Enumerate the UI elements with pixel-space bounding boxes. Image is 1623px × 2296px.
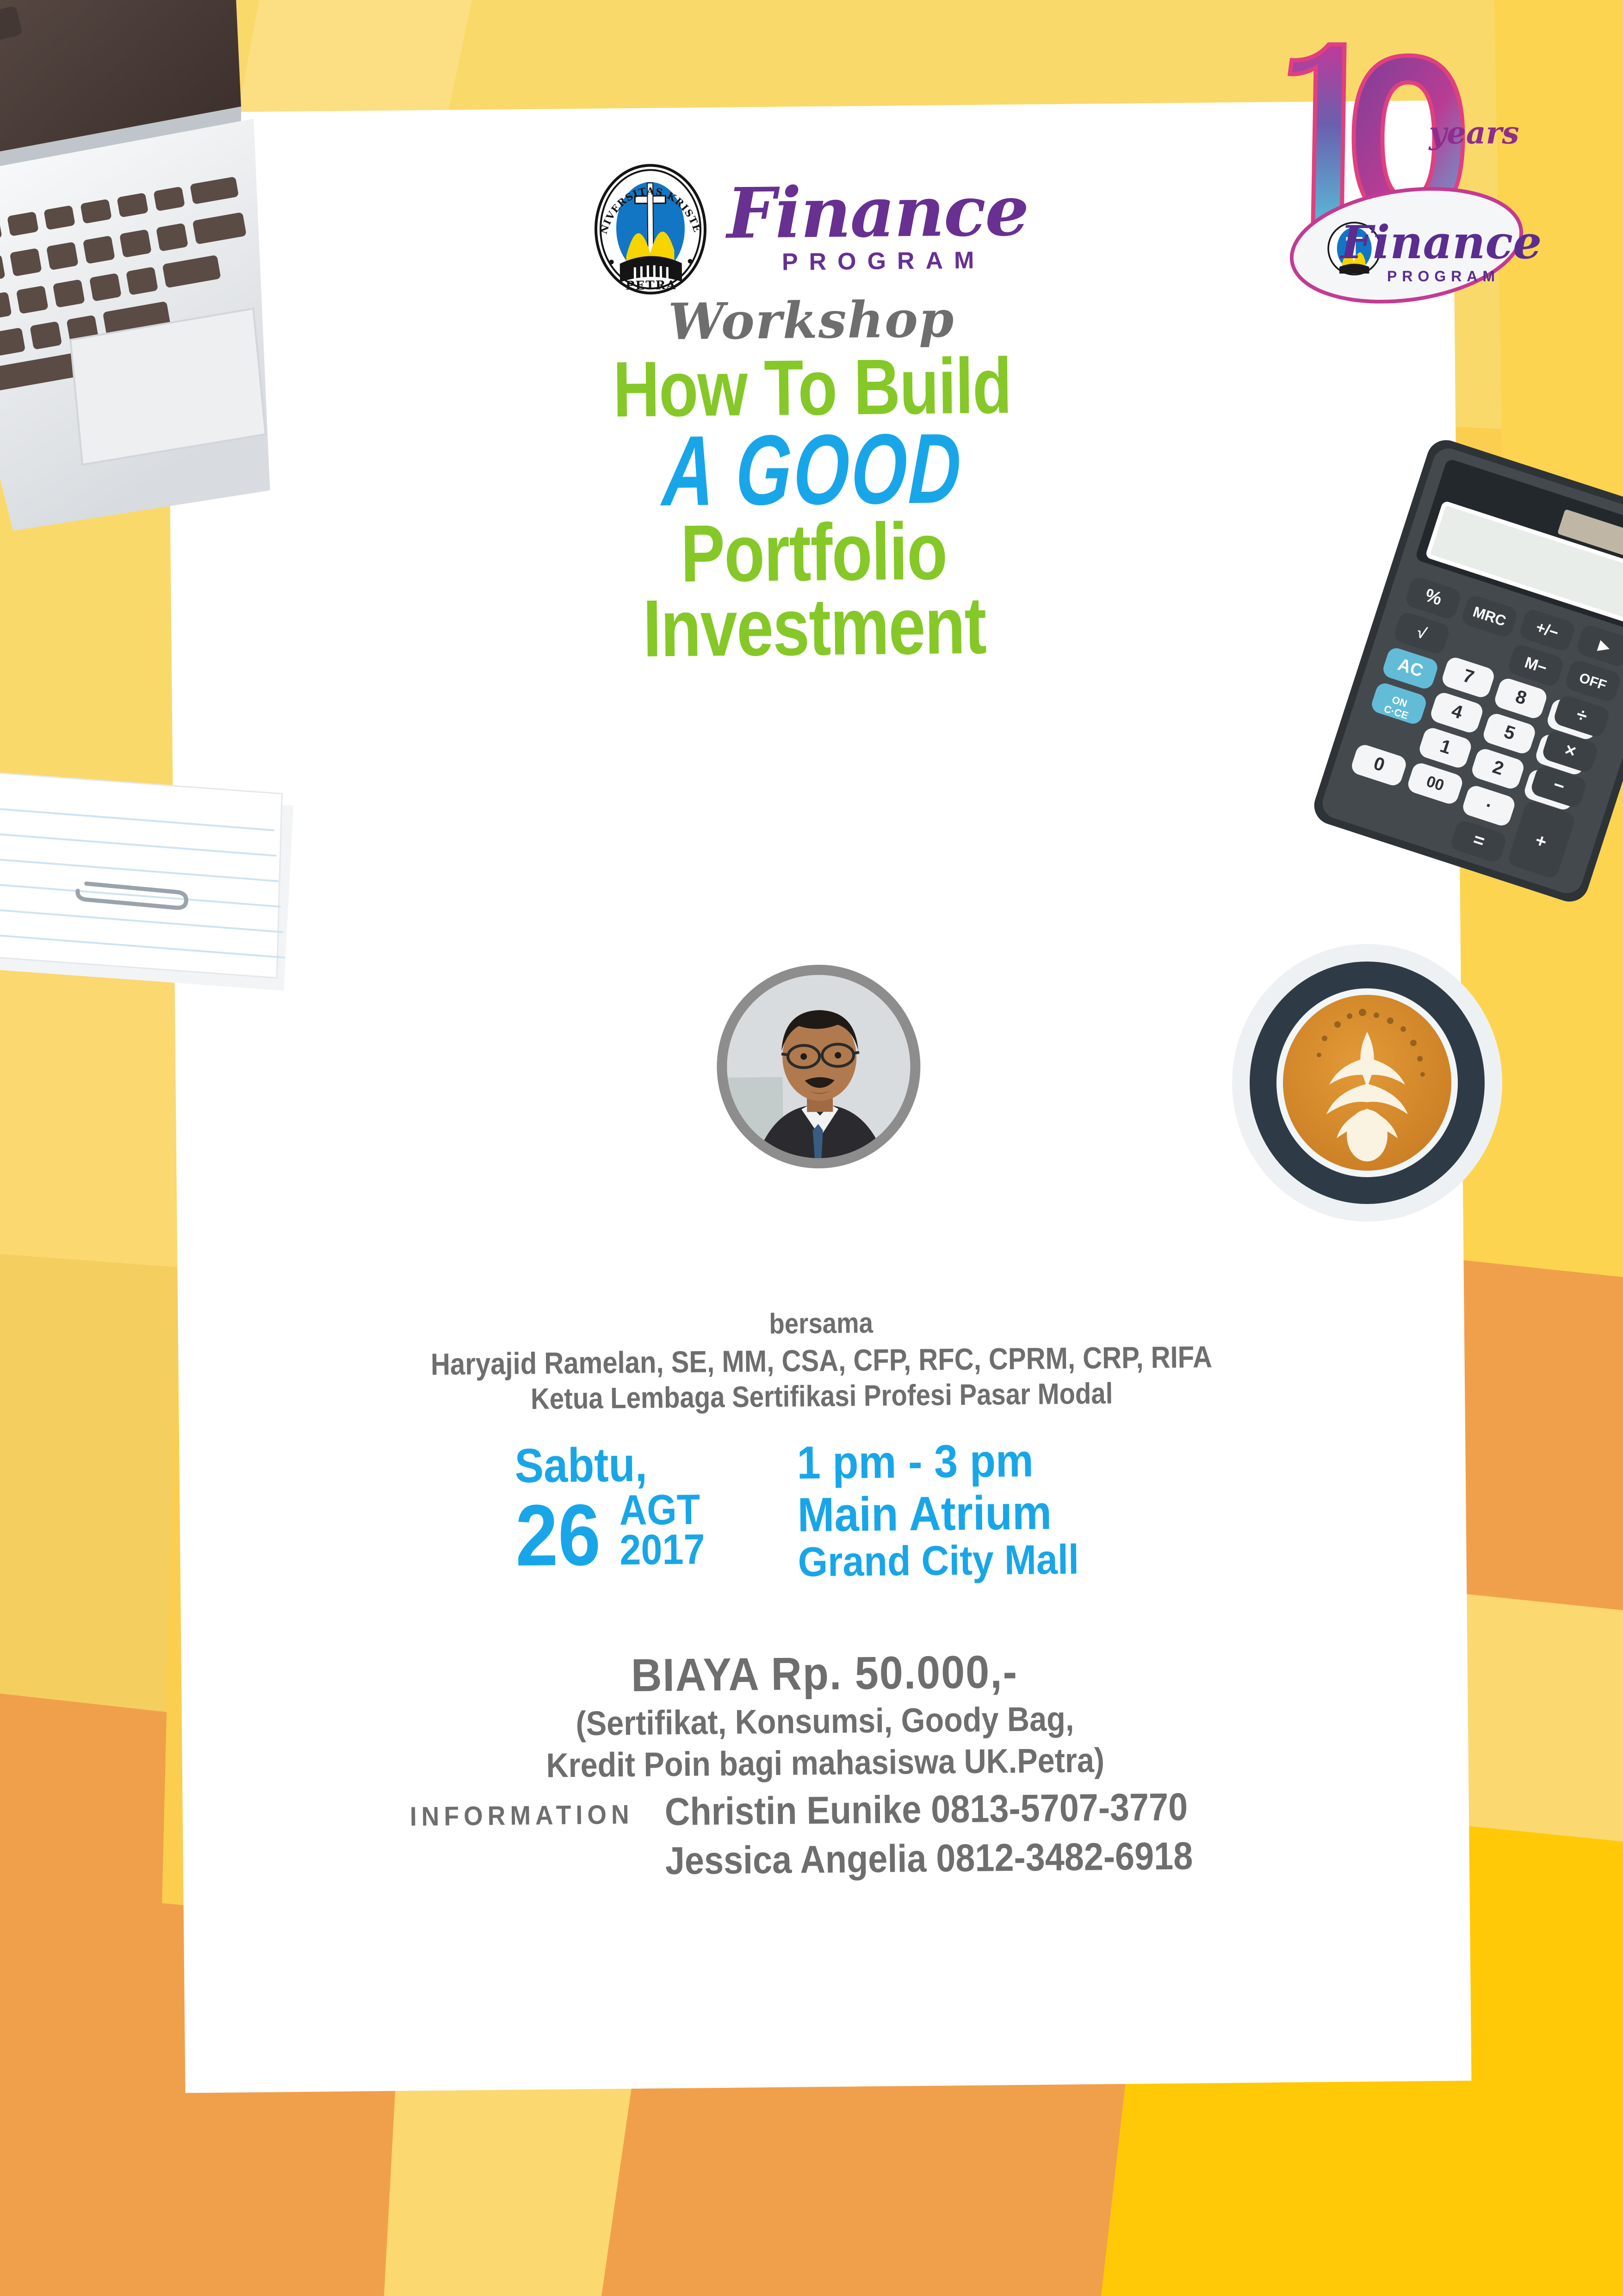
event-time-venue-block: 1 pm - 3 pm Main Atrium Grand City Mall: [797, 1435, 1187, 1584]
information-contacts: Christin Eunike 0813-5707-3770 Jessica A…: [665, 1782, 1252, 1886]
information-block: INFORMATION Christin Eunike 0813-5707-37…: [182, 1780, 1469, 1890]
event-time: 1 pm - 3 pm: [797, 1436, 1155, 1486]
event-date-number: 26: [515, 1499, 601, 1571]
program-wordmark: PROGRAM: [782, 246, 985, 276]
price-block: BIAYA Rp. 50.000,- (Sertifikat, Konsumsi…: [181, 1641, 1468, 1790]
svg-text:Finance: Finance: [1339, 216, 1542, 269]
ten-years-anniversary-logo: years PETRA Finance PROGRAM: [1258, 28, 1545, 315]
headline-block: How To Build A GOOD Portfolio Investment: [169, 346, 1458, 671]
event-date-block: Sabtu, 26 AGT 2017: [459, 1440, 766, 1588]
event-date-row: 26 AGT 2017: [515, 1489, 766, 1571]
event-venue-primary: Main Atrium: [797, 1487, 1155, 1541]
event-month-year: AGT 2017: [619, 1490, 705, 1570]
finance-program-lockup: Finance PROGRAM: [726, 178, 1029, 277]
event-day: Sabtu,: [514, 1440, 740, 1490]
svg-text:PROGRAM: PROGRAM: [1387, 268, 1500, 285]
finance-wordmark: Finance: [726, 178, 1028, 247]
poster-content: UNIVERSITAS KRISTEN PETRA Finance PROGRA…: [167, 100, 1472, 2093]
contact-person-2: Jessica Angelia 0812-3482-6918: [665, 1831, 1193, 1886]
headline-line-2: A GOOD: [348, 420, 1278, 520]
seal-bottom-text: PETRA: [626, 279, 677, 293]
event-venue-secondary: Grand City Mall: [798, 1537, 1156, 1584]
speaker-portrait-photo: [726, 974, 913, 1161]
information-label: INFORMATION: [410, 1788, 634, 1832]
event-details: Sabtu, 26 AGT 2017 1 pm - 3 pm Main Atri…: [179, 1433, 1467, 1590]
petra-university-seal-icon: UNIVERSITAS KRISTEN PETRA: [592, 163, 709, 296]
event-year: 2017: [619, 1530, 705, 1570]
event-month: AGT: [619, 1490, 705, 1530]
contact-person-1: Christin Eunike 0813-5707-3770: [665, 1782, 1193, 1837]
speaker-portrait: [716, 964, 921, 1169]
svg-text:years: years: [1428, 115, 1519, 151]
headline-line-4: Investment: [287, 585, 1342, 670]
